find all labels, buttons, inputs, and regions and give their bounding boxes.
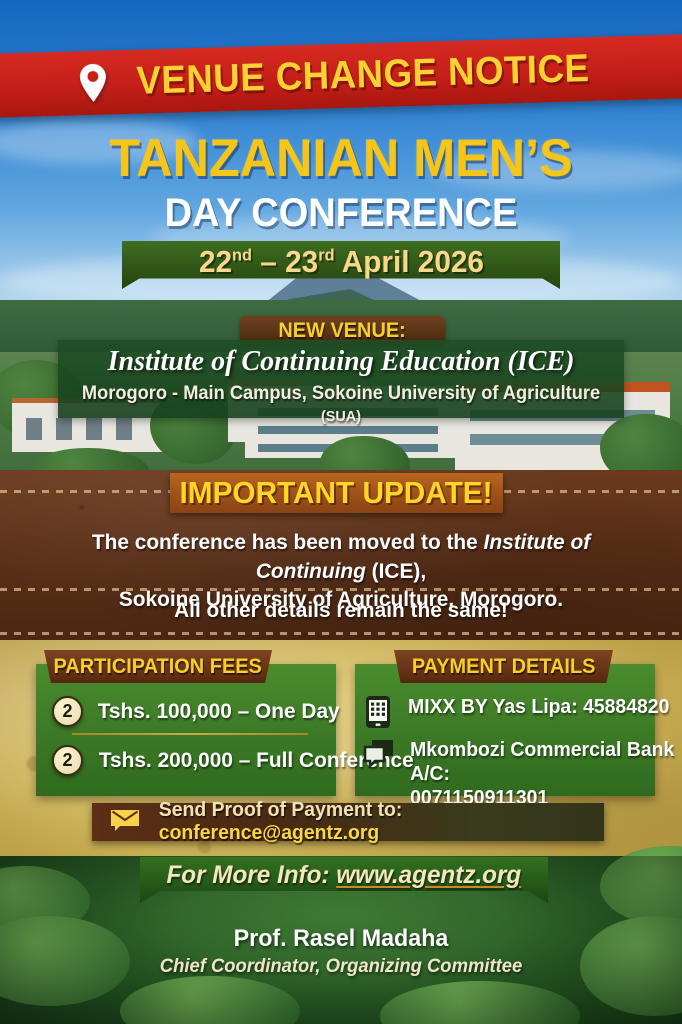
- coin-icon: 2: [52, 696, 83, 727]
- send-proof-text: Send Proof of Payment to:: [159, 799, 403, 821]
- payment-details-heading-label: PAYMENT DETAILS: [412, 655, 596, 679]
- title-line-2: DAY CONFERENCE: [17, 191, 665, 236]
- more-info-text: For More Info: www.agentz.org: [167, 861, 522, 890]
- venue-subline-abbr: (SUA): [321, 408, 361, 425]
- update-note: All other details remain the same!: [49, 598, 633, 623]
- participation-fees-heading-label: PARTICIPATION FEES: [54, 655, 262, 679]
- more-info-label: For More Info:: [167, 861, 337, 889]
- mobile-keypad-icon: [363, 695, 393, 734]
- fee-item-label: Tshs. 100,000 – One Day: [98, 699, 340, 724]
- signature-name: Prof. Rasel Madaha: [10, 925, 672, 953]
- venue-band: Institute of Continuing Education (ICE) …: [58, 340, 624, 418]
- poster-canvas: VENUE CHANGE NOTICE TANZANIAN MEN’S DAY …: [0, 0, 682, 1024]
- divider-dashed: [0, 588, 682, 591]
- send-proof-bar[interactable]: Send Proof of Payment to: conference@age…: [92, 803, 604, 841]
- title-line-1: TANZANIAN MEN’S: [17, 128, 665, 189]
- coin-icon: 2: [52, 745, 83, 776]
- more-info-url[interactable]: www.agentz.org: [336, 861, 521, 889]
- date-separator: –: [260, 244, 277, 279]
- payment-item-label-line1: Mkombozi Commercial Bank A/C:: [410, 739, 674, 785]
- divider-dashed: [0, 632, 682, 635]
- poster-title: TANZANIAN MEN’S DAY CONFERENCE: [0, 128, 682, 236]
- participation-fees-heading: PARTICIPATION FEES: [44, 650, 272, 683]
- signature-block: Prof. Rasel Madaha Chief Coordinator, Or…: [0, 925, 682, 978]
- date-day-start-ordinal: nd: [232, 246, 252, 265]
- fee-divider: [72, 733, 308, 735]
- payment-item: MIXX BY Yas Lipa: 45884820: [363, 695, 673, 734]
- fee-item: 2 Tshs. 100,000 – One Day: [52, 696, 343, 727]
- date-text: 22nd – 23rd April 2026: [198, 244, 483, 280]
- date-month-year: April 2026: [341, 244, 483, 279]
- send-proof-label: Send Proof of Payment to: conference@age…: [159, 799, 597, 845]
- update-body-pre: The conference has been moved to the: [92, 530, 484, 554]
- date-day-end: 23: [285, 244, 318, 279]
- chat-bubbles-icon: [363, 738, 395, 775]
- date-day-start: 22: [198, 244, 231, 279]
- signature-role: Chief Coordinator, Organizing Committee: [10, 956, 672, 978]
- payment-details-heading: PAYMENT DETAILS: [394, 650, 613, 683]
- envelope-icon: [110, 808, 140, 837]
- important-update-label: IMPORTANT UPDATE!: [180, 475, 493, 511]
- participation-fees-panel: [36, 664, 336, 796]
- update-body-post: (ICE),: [366, 559, 426, 583]
- venue-subline: Morogoro - Main Campus, Sokoine Universi…: [69, 383, 612, 427]
- payment-item-label: MIXX BY Yas Lipa: 45884820: [408, 695, 669, 719]
- update-body-line-1: The conference has been moved to the Ins…: [49, 528, 633, 585]
- notice-banner-label: VENUE CHANGE NOTICE: [136, 47, 590, 104]
- important-update-tab: IMPORTANT UPDATE!: [170, 473, 503, 513]
- venue-name: Institute of Continuing Education (ICE): [58, 346, 624, 378]
- location-pin-icon: [78, 63, 109, 104]
- venue-subline-main: Morogoro - Main Campus, Sokoine Universi…: [82, 383, 600, 404]
- send-proof-email[interactable]: conference@agentz.org: [159, 822, 380, 844]
- date-day-end-ordinal: rd: [318, 246, 334, 265]
